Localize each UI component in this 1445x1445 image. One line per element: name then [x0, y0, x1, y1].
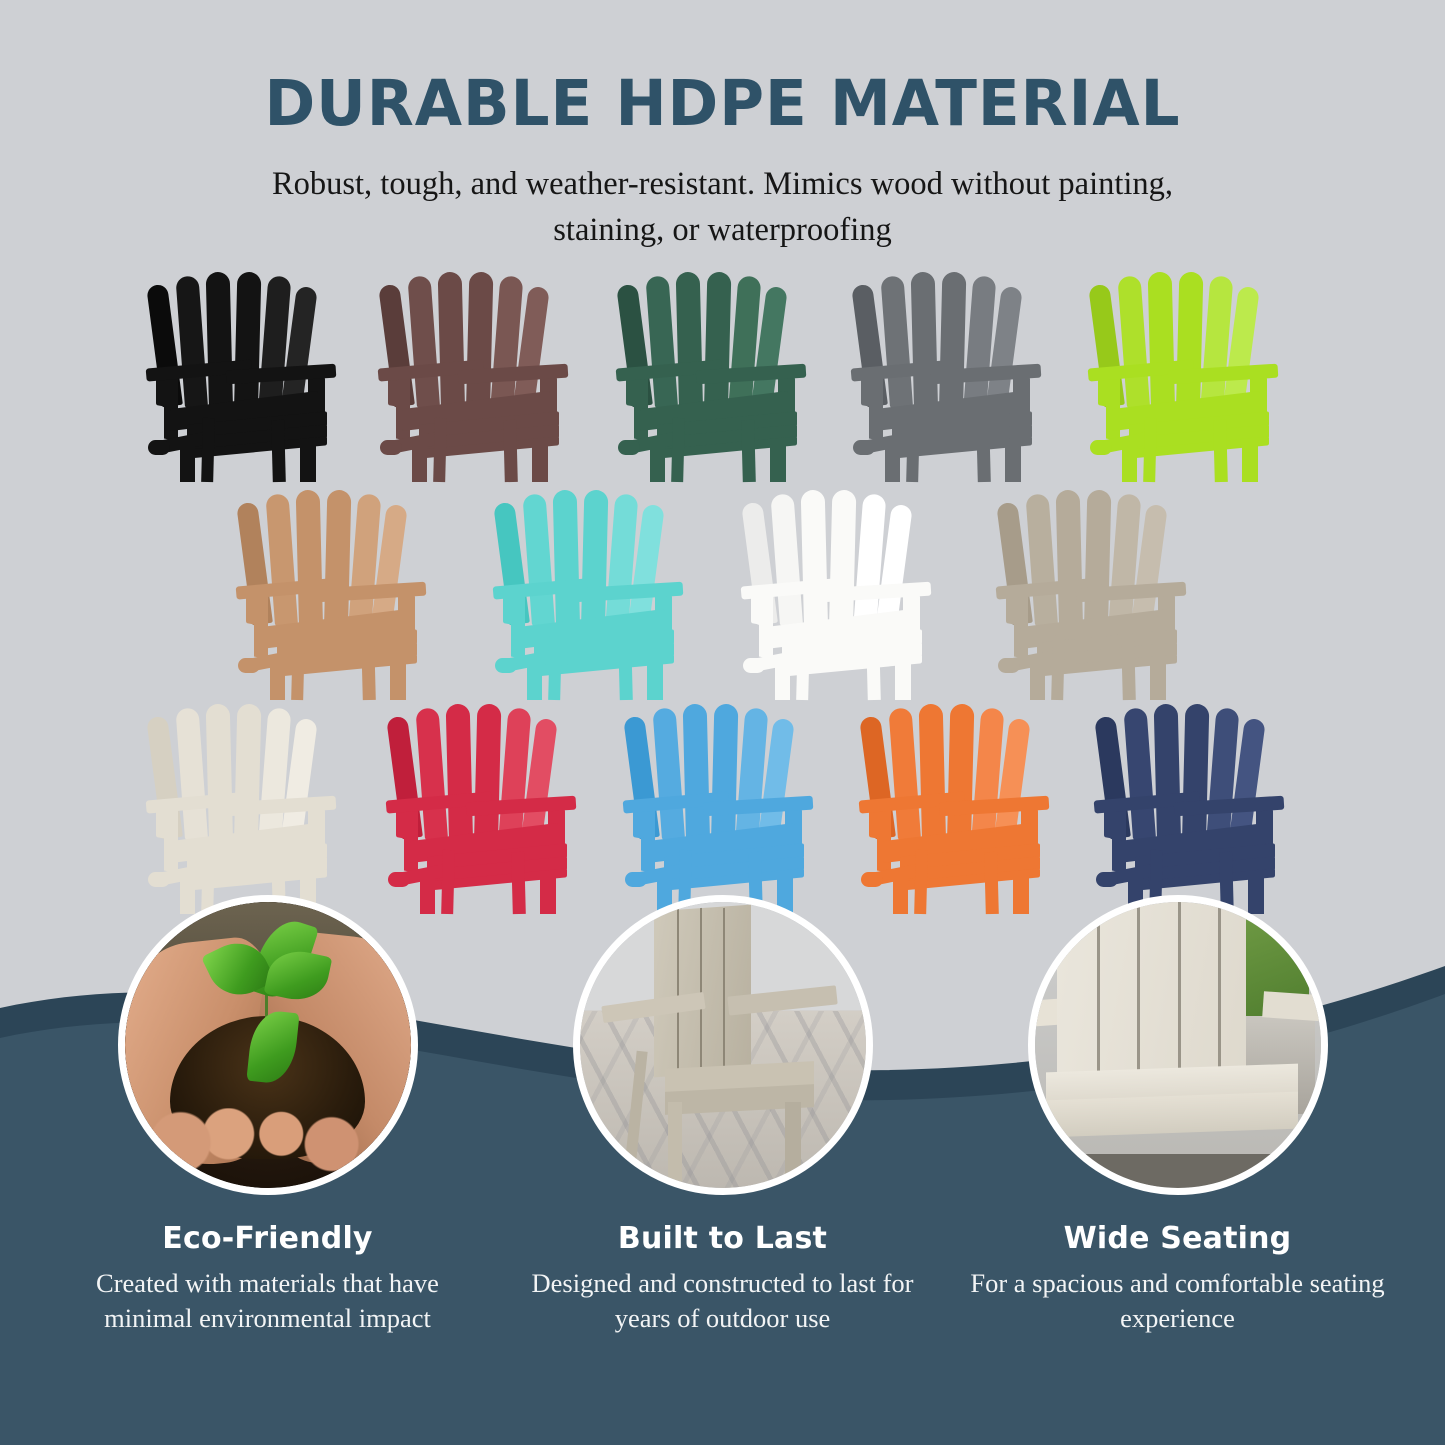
hands-holding-soil-and-seedling-photo	[118, 895, 418, 1195]
cream-chair-wide-seat-closeup-photo	[1028, 895, 1328, 1195]
chair-swatch-lime-green[interactable]	[1082, 268, 1287, 483]
chair-swatch-brown[interactable]	[372, 268, 577, 483]
feature-heading: Built to Last	[495, 1221, 950, 1256]
chair-swatch-black[interactable]	[140, 268, 345, 483]
chair-swatch-weathered-wood[interactable]	[990, 486, 1195, 701]
chair-swatch-light-blue[interactable]	[617, 700, 822, 915]
feature-heading: Wide Seating	[950, 1221, 1405, 1256]
feature-body: Created with materials that have minimal…	[53, 1266, 483, 1336]
chair-swatch-ivory[interactable]	[140, 700, 345, 915]
chair-swatch-gray[interactable]	[845, 268, 1050, 483]
chair-row-2	[0, 486, 1445, 701]
chair-swatch-orange[interactable]	[853, 700, 1058, 915]
infographic-canvas: DURABLE HDPE MATERIAL Robust, tough, and…	[0, 0, 1445, 1445]
feature-card-wide-seating: Wide Seating For a spacious and comforta…	[950, 895, 1405, 1336]
page-title: DURABLE HDPE MATERIAL	[22, 0, 1424, 135]
chair-row-3	[0, 700, 1445, 915]
chair-swatch-teak[interactable]	[230, 486, 435, 701]
chair-swatch-dark-green[interactable]	[610, 268, 815, 483]
chair-swatch-turquoise[interactable]	[487, 486, 692, 701]
taupe-adirondack-chair-on-patio-photo	[573, 895, 873, 1195]
chair-swatch-navy-blue[interactable]	[1088, 700, 1293, 915]
chair-row-1	[0, 268, 1445, 483]
feature-heading: Eco-Friendly	[40, 1221, 495, 1256]
feature-card-eco-friendly: Eco-Friendly Created with materials that…	[40, 895, 495, 1336]
feature-card-built-to-last: Built to Last Designed and constructed t…	[495, 895, 950, 1336]
feature-cards: Eco-Friendly Created with materials that…	[0, 895, 1445, 1445]
header: DURABLE HDPE MATERIAL Robust, tough, and…	[0, 0, 1445, 253]
chair-swatch-white[interactable]	[735, 486, 940, 701]
product-color-grid	[0, 268, 1445, 918]
page-subtitle: Robust, tough, and weather-resistant. Mi…	[223, 135, 1223, 253]
feature-body: For a spacious and comfortable seating e…	[963, 1266, 1393, 1336]
feature-body: Designed and constructed to last for yea…	[508, 1266, 938, 1336]
chair-swatch-red[interactable]	[380, 700, 585, 915]
